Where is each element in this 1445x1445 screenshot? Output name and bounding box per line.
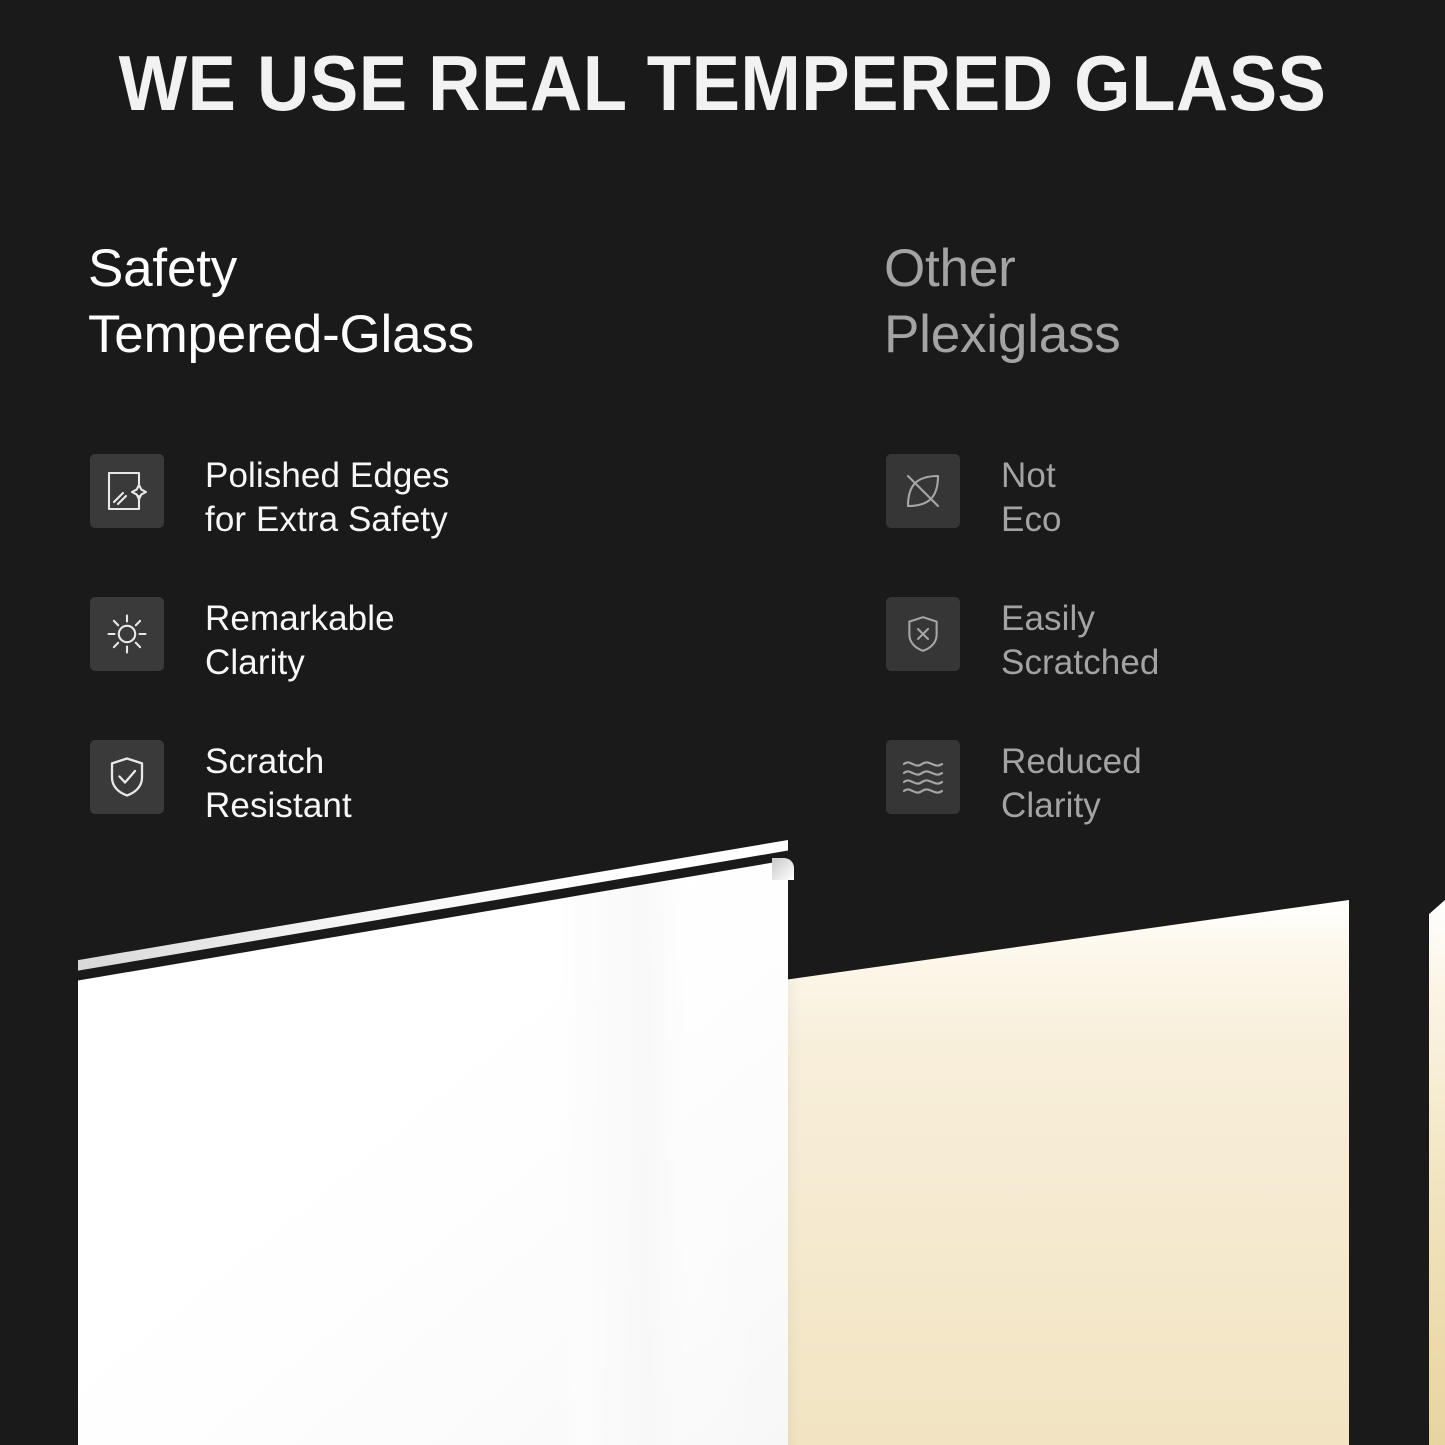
column-heading-left: Safety Tempered-Glass bbox=[88, 236, 788, 367]
feature-row: Remarkable Clarity bbox=[90, 595, 790, 738]
panel-comparison-image bbox=[0, 840, 1445, 1445]
feature-list-right: Not Eco Easily Scratched bbox=[886, 452, 1445, 881]
shield-check-icon bbox=[90, 740, 164, 814]
feature-row: Easily Scratched bbox=[886, 595, 1445, 738]
sun-brightness-icon bbox=[90, 597, 164, 671]
plexiglass-panel-edge bbox=[1429, 900, 1445, 1445]
feature-row: Polished Edges for Extra Safety bbox=[90, 452, 790, 595]
plexiglass-panel bbox=[783, 900, 1349, 1445]
feature-label: Scratch Resistant bbox=[205, 738, 352, 828]
feature-label: Reduced Clarity bbox=[1001, 738, 1142, 828]
column-heading-right: Other Plexiglass bbox=[884, 236, 1444, 367]
comparison-infographic: WE USE REAL TEMPERED GLASS Safety Temper… bbox=[0, 0, 1445, 1445]
page-title: WE USE REAL TEMPERED GLASS bbox=[51, 38, 1395, 129]
tempered-glass-panel bbox=[78, 860, 788, 1445]
shield-x-icon bbox=[886, 597, 960, 671]
feature-label: Not Eco bbox=[1001, 452, 1062, 542]
polished-glass-pane-icon bbox=[90, 454, 164, 528]
leaf-crossed-out-icon bbox=[886, 454, 960, 528]
column-other-plexiglass: Other Plexiglass Not Eco bbox=[884, 236, 1444, 367]
feature-label: Remarkable Clarity bbox=[205, 595, 395, 685]
column-safety-tempered-glass: Safety Tempered-Glass Polished Edges for… bbox=[88, 236, 788, 367]
wavy-lines-icon bbox=[886, 740, 960, 814]
feature-label: Polished Edges for Extra Safety bbox=[205, 452, 450, 542]
feature-row: Not Eco bbox=[886, 452, 1445, 595]
feature-list-left: Polished Edges for Extra Safety bbox=[90, 452, 790, 881]
feature-label: Easily Scratched bbox=[1001, 595, 1160, 685]
